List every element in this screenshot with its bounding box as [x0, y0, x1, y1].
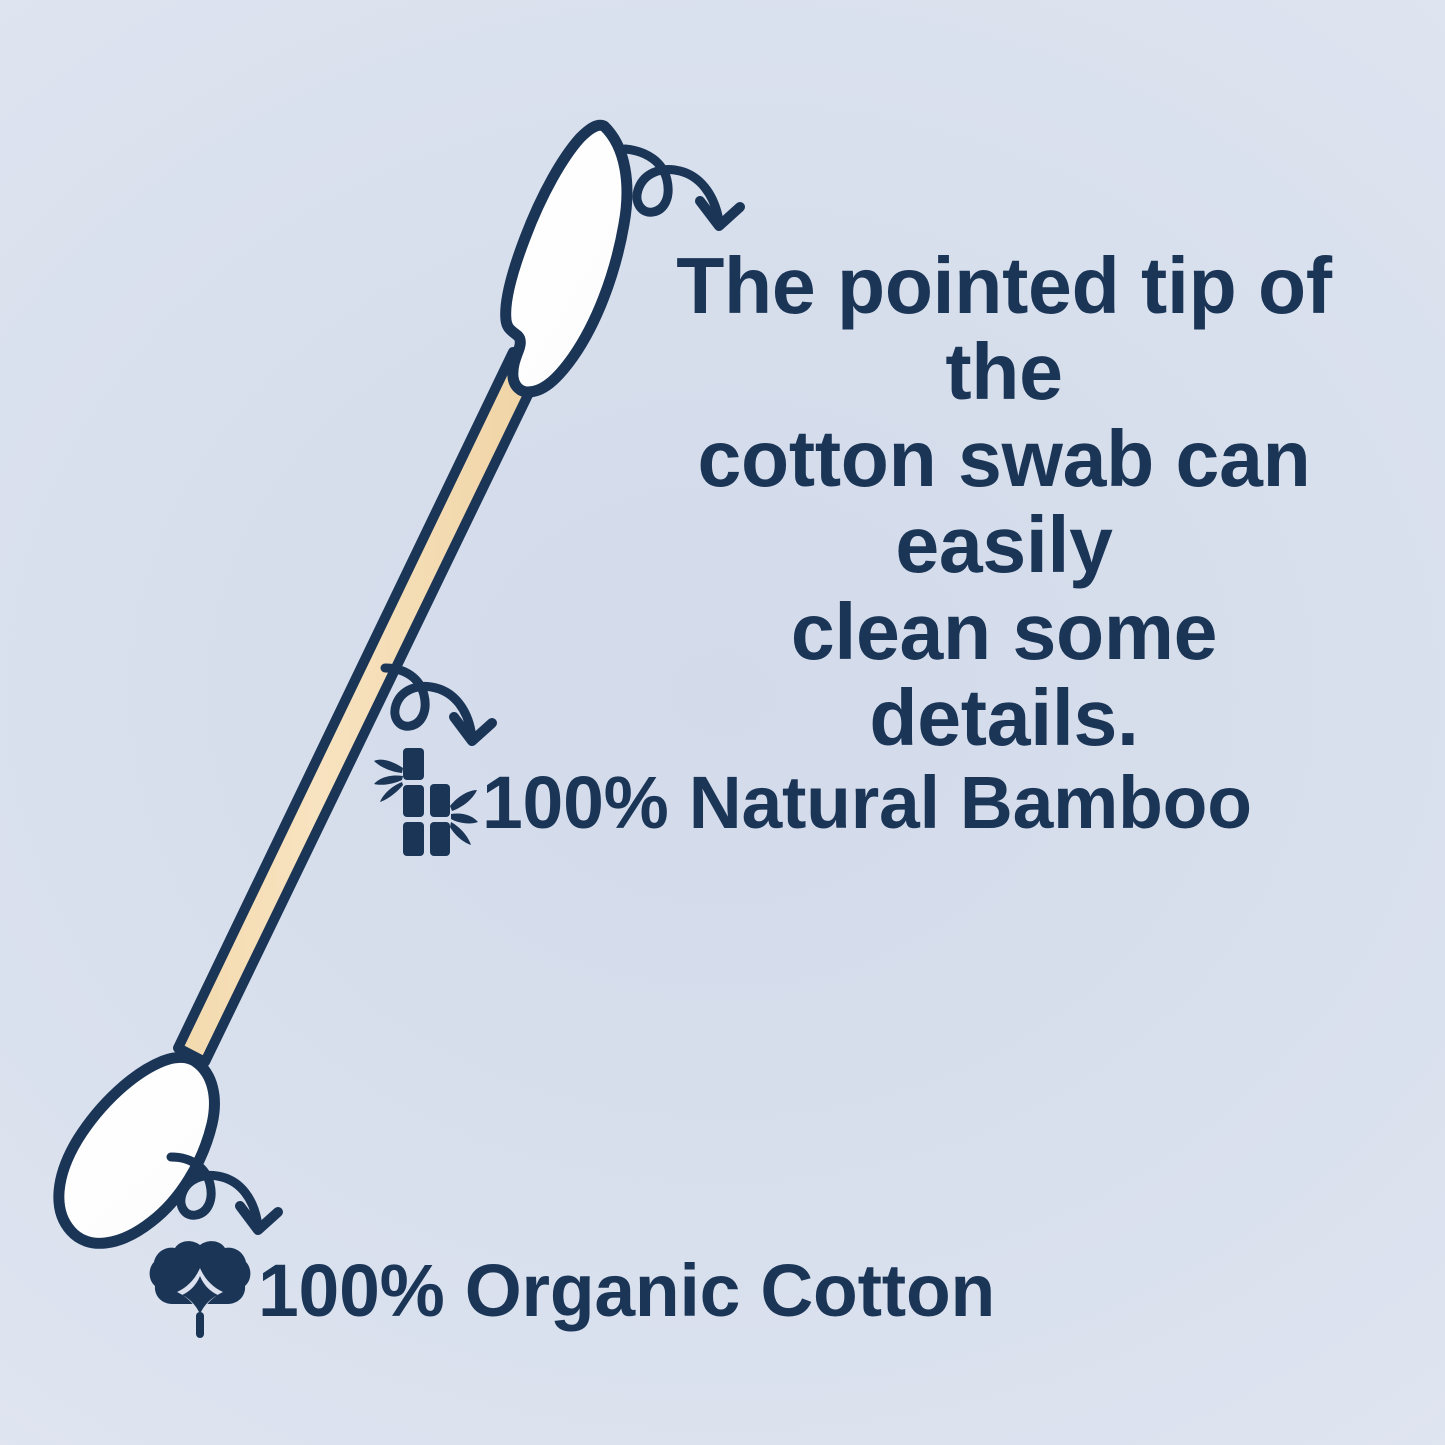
headline-line-2: cotton swab can easily [653, 416, 1354, 589]
pointed-cotton-tip [506, 125, 627, 392]
headline-text: The pointed tip of the cotton swab can e… [653, 243, 1354, 761]
headline-line-1: The pointed tip of the [653, 243, 1354, 416]
bamboo-stick [178, 352, 541, 1062]
feature-label-cotton: 100% Organic Cotton [258, 1248, 995, 1333]
feature-row-cotton: 100% Organic Cotton [148, 1238, 1003, 1342]
infographic-canvas: The pointed tip of the cotton swab can e… [0, 0, 1445, 1445]
feature-label-bamboo: 100% Natural Bamboo [482, 760, 1252, 845]
curved-arrow-icon-stick [385, 668, 492, 741]
curved-arrow-icon-tip [625, 149, 740, 226]
bamboo-icon [374, 746, 478, 858]
feature-row-bamboo: 100% Natural Bamboo [374, 746, 1260, 858]
headline-line-3: clean some details. [653, 589, 1354, 762]
cotton-boll-icon [148, 1238, 252, 1342]
